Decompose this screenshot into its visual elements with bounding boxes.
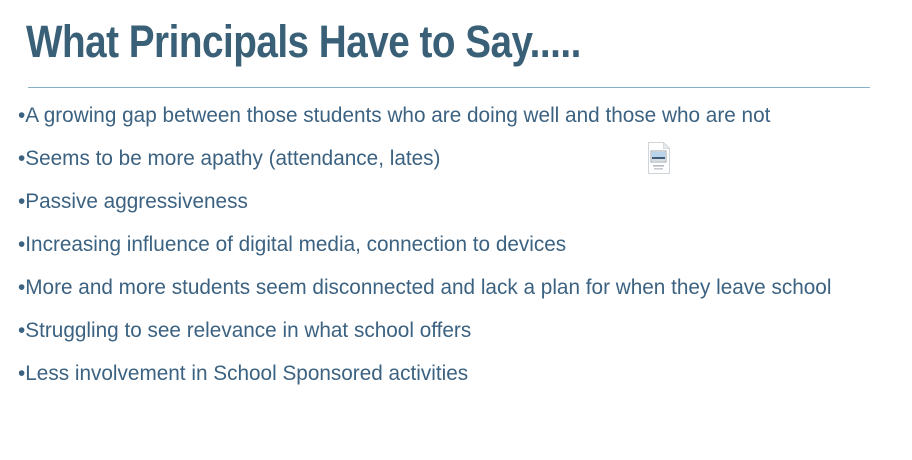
list-item-text: Increasing influence of digital media, c…: [25, 232, 566, 256]
page-title: What Principals Have to Say.....: [26, 16, 766, 68]
list-item: •Struggling to see relevance in what sch…: [18, 316, 848, 344]
title-divider: [28, 87, 870, 88]
list-item-text: Less involvement in School Sponsored act…: [25, 361, 468, 385]
presentation-slide: What Principals Have to Say..... •A grow…: [0, 0, 912, 460]
list-item-text: Seems to be more apathy (attendance, lat…: [25, 146, 440, 170]
bullet-dot-icon: •: [18, 189, 25, 213]
list-item-text: Struggling to see relevance in what scho…: [25, 318, 471, 342]
list-item: •Less involvement in School Sponsored ac…: [18, 359, 848, 387]
thumbnail-horizon: [652, 157, 665, 159]
list-item: •A growing gap between those students wh…: [18, 101, 848, 129]
list-item: •More and more students seem disconnecte…: [18, 273, 848, 301]
bullet-dot-icon: •: [18, 103, 25, 127]
bullet-dot-icon: •: [18, 361, 25, 385]
bullet-dot-icon: •: [18, 318, 25, 342]
bullet-dot-icon: •: [18, 232, 25, 256]
bullet-dot-icon: •: [18, 275, 25, 299]
list-item: •Increasing influence of digital media, …: [18, 230, 848, 258]
bullet-dot-icon: •: [18, 146, 25, 170]
bullet-list: •A growing gap between those students wh…: [18, 101, 878, 387]
folded-corner-shape: [664, 143, 670, 149]
list-item: •Seems to be more apathy (attendance, la…: [18, 144, 848, 172]
list-item: •Passive aggressiveness: [18, 187, 848, 215]
missing-image-icon: [645, 141, 673, 175]
list-item-text: More and more students seem disconnected…: [25, 275, 831, 299]
thumbnail-foreground: [652, 159, 665, 161]
list-item-text: Passive aggressiveness: [25, 189, 248, 213]
label-line-1: [653, 165, 664, 167]
label-line-2: [654, 168, 663, 170]
list-item-text: A growing gap between those students who…: [25, 103, 770, 127]
